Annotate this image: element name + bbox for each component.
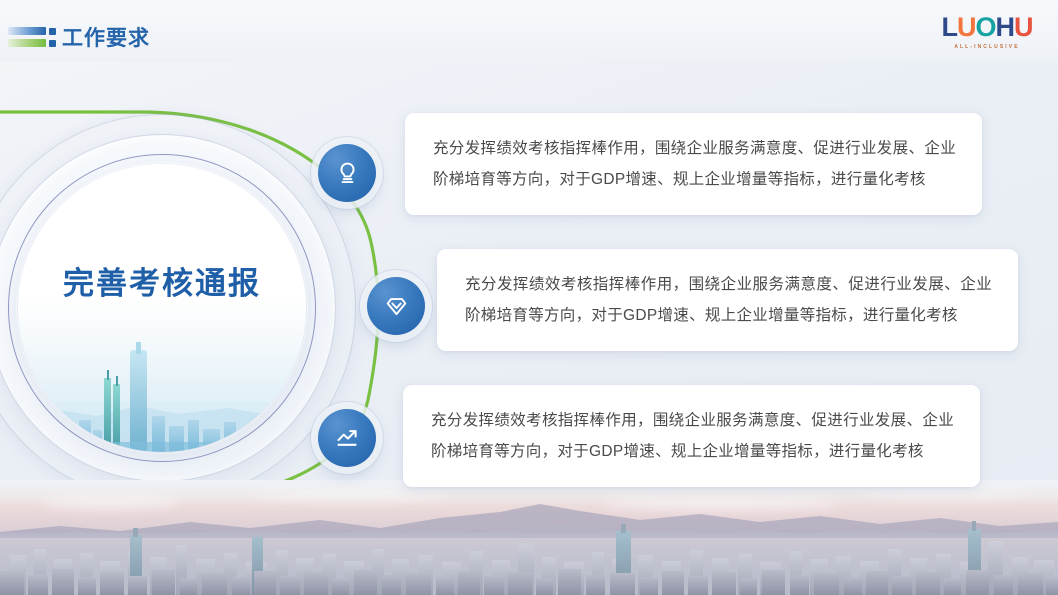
logo-letter-h: H (996, 14, 1015, 41)
diamond-icon[interactable] (367, 277, 425, 335)
hero-circle-graphic: 完善考核通报 (0, 108, 362, 508)
hero-photo (18, 164, 306, 452)
footer-buildings (0, 515, 1058, 595)
slide-header: 工作要求 L U O H U ALL-INCLUSIVE (0, 0, 1058, 62)
header-square-green (49, 40, 56, 47)
page-title: 工作要求 (62, 22, 150, 52)
header-bar-green (8, 39, 46, 47)
footer-cityscape (0, 480, 1058, 595)
content-card-2[interactable]: 充分发挥绩效考核指挥棒作用，围绕企业服务满意度、促进行业发展、企业阶梯培育等方向… (437, 249, 1018, 351)
trending-up-icon[interactable] (318, 409, 376, 467)
slide-canvas: 工作要求 L U O H U ALL-INCLUSIVE (0, 0, 1058, 595)
logo-letter-l1: L (941, 14, 957, 41)
logo-tagline: ALL-INCLUSIVE (954, 44, 1019, 50)
logo-letter-o: O (975, 14, 995, 41)
brand-logo: L U O H U ALL-INCLUSIVE (934, 12, 1040, 52)
header-bar-blue (8, 27, 46, 35)
logo-letter-u2: U (1014, 14, 1033, 41)
header-square-blue (49, 28, 56, 35)
content-card-3[interactable]: 充分发挥绩效考核指挥棒作用，围绕企业服务满意度、促进行业发展、企业阶梯培育等方向… (403, 385, 980, 487)
content-card-1[interactable]: 充分发挥绩效考核指挥棒作用，围绕企业服务满意度、促进行业发展、企业阶梯培育等方向… (405, 113, 982, 215)
content-card-2-text: 充分发挥绩效考核指挥棒作用，围绕企业服务满意度、促进行业发展、企业阶梯培育等方向… (465, 269, 992, 331)
photo-cityscape (18, 332, 306, 452)
content-card-3-text: 充分发挥绩效考核指挥棒作用，围绕企业服务满意度、促进行业发展、企业阶梯培育等方向… (431, 405, 954, 467)
lightbulb-icon[interactable] (318, 144, 376, 202)
content-card-1-text: 充分发挥绩效考核指挥棒作用，围绕企业服务满意度、促进行业发展、企业阶梯培育等方向… (433, 133, 956, 195)
logo-wordmark: L U O H U (941, 14, 1032, 41)
hero-title: 完善考核通报 (0, 258, 362, 303)
logo-letter-u1: U (957, 14, 976, 41)
gradient-bars-icon (8, 27, 56, 49)
